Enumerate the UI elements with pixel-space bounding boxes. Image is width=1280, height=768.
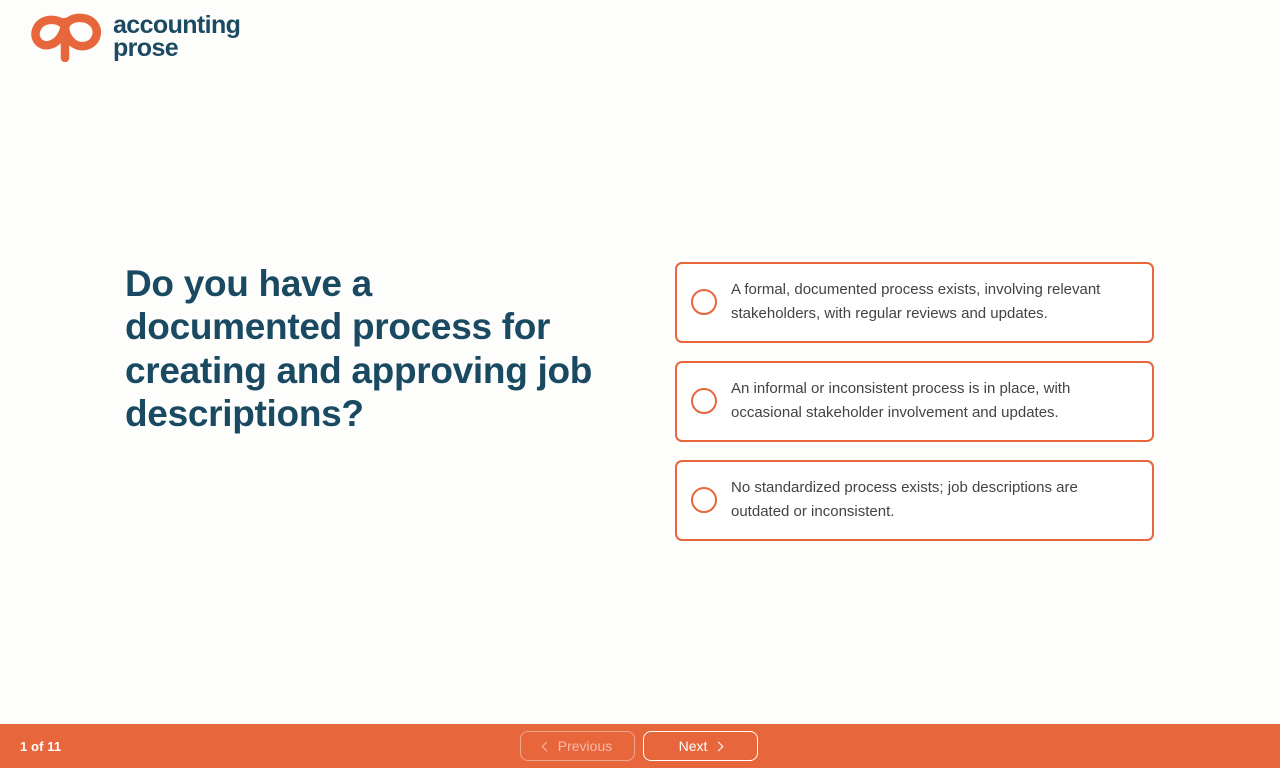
radio-button-3[interactable]	[691, 487, 717, 513]
answer-option-3[interactable]: No standardized process exists; job desc…	[675, 460, 1154, 541]
answer-option-label-3: No standardized process exists; job desc…	[731, 476, 1134, 525]
progress-indicator: 1 of 11	[20, 739, 61, 754]
next-button[interactable]: Next	[643, 731, 758, 761]
previous-button[interactable]: Previous	[520, 731, 635, 761]
answer-option-2[interactable]: An informal or inconsistent process is i…	[675, 361, 1154, 442]
survey-content: Do you have a documented process for cre…	[0, 0, 1280, 724]
next-button-label: Next	[679, 738, 708, 754]
answer-option-label-2: An informal or inconsistent process is i…	[731, 377, 1134, 426]
navigation-controls: Previous Next	[520, 731, 758, 761]
chevron-left-icon	[541, 741, 551, 751]
chevron-right-icon	[714, 741, 724, 751]
previous-button-label: Previous	[558, 738, 612, 754]
footer-bar: 1 of 11 Previous Next	[0, 724, 1280, 768]
radio-button-1[interactable]	[691, 289, 717, 315]
radio-button-2[interactable]	[691, 388, 717, 414]
question-title: Do you have a documented process for cre…	[125, 262, 595, 435]
answer-options-list: A formal, documented process exists, inv…	[675, 262, 1154, 541]
answer-option-label-1: A formal, documented process exists, inv…	[731, 278, 1134, 327]
answer-option-1[interactable]: A formal, documented process exists, inv…	[675, 262, 1154, 343]
